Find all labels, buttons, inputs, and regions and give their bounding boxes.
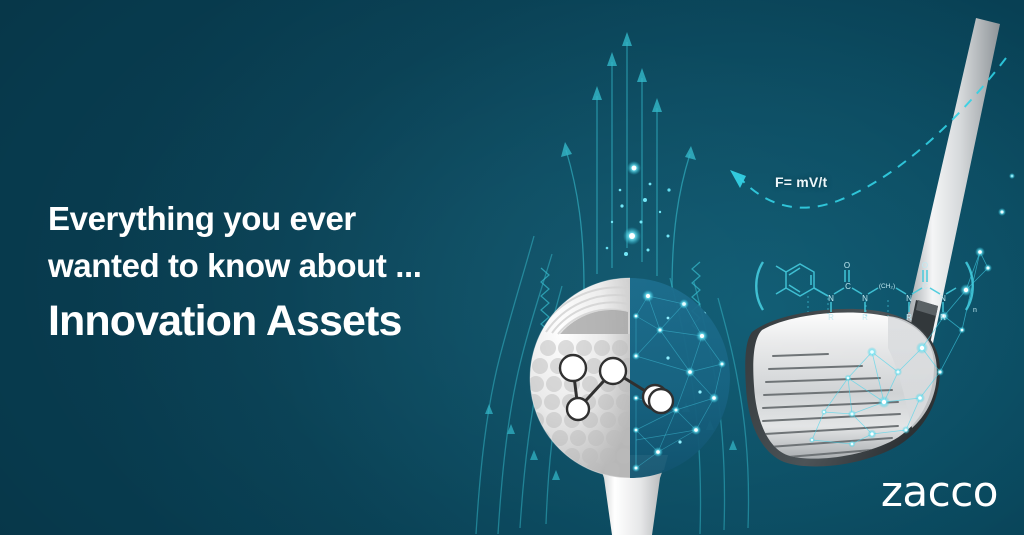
zacco-logo: zacco [881, 471, 998, 513]
headline-line-1: Everything you ever [48, 196, 488, 243]
headline-line-2: wanted to know about ... [48, 243, 488, 290]
headline-emphasis: Innovation Assets [48, 296, 488, 347]
physics-formula-label: F= mV/t [775, 174, 827, 190]
headline-block: Everything you ever wanted to know about… [48, 196, 488, 346]
zacco-wordmark: zacco [881, 471, 998, 513]
promotional-banner: O C N N (CH₂) N C O N R R R R n Everythi… [0, 0, 1024, 535]
